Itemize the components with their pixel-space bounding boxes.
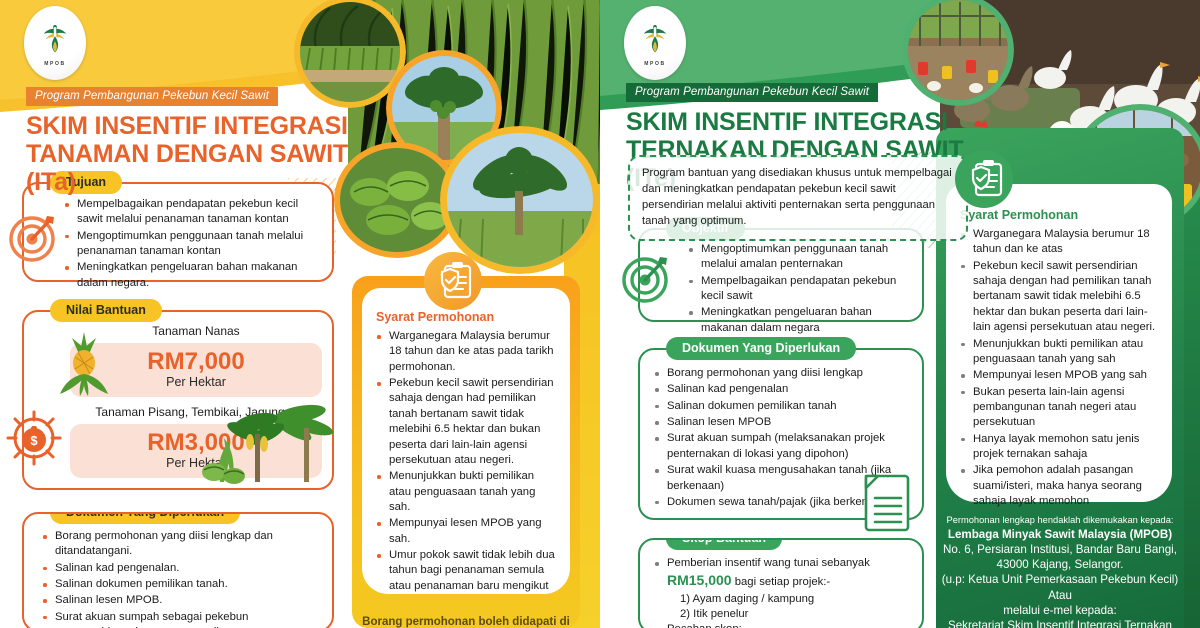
syarat-ite-list: Warganegara Malaysia berumur 18 tahun da…: [960, 227, 1158, 509]
target-icon: [6, 208, 62, 264]
list-item: Surat akuan sumpah (melaksanakan projek …: [654, 431, 910, 462]
syarat-ite-title: Syarat Permohonan: [960, 208, 1158, 222]
list-item: Pekebun kecil sawit persendirian sahaja …: [960, 259, 1158, 336]
target-icon-green: [618, 248, 676, 306]
list-item: Menunjukkan bukti pemilikan atau penguas…: [960, 337, 1158, 368]
money-target-icon: $: [4, 408, 64, 468]
contact-or: Atau: [938, 588, 1182, 603]
list-item: Mengoptimumkan penggunaan tanah melalui …: [688, 242, 910, 273]
chip-skop-bantuan: Skop Bantuan: [666, 538, 782, 550]
panel-ite: MPOB Program Pembangunan Pekebun Kecil S…: [600, 0, 1200, 628]
mpob-logo: MPOB: [24, 6, 86, 80]
left-footer-note: Borang permohonan boleh didapati di: [350, 616, 582, 628]
list-item: Umur pokok sawit tidak lebih dua tahun b…: [376, 548, 556, 594]
list-item: Hanya layak memohon satu jenis projek te…: [960, 432, 1158, 463]
left-header: Program Pembangunan Pekebun Kecil Sawit …: [26, 86, 356, 196]
left-title-line1: SKIM INSENTIF INTEGRASI: [26, 112, 356, 140]
list-item: Mengoptimumkan penggunaan tanah melalui …: [64, 229, 320, 260]
card-skop-bantuan: Skop Bantuan Pemberian insentif wang tun…: [638, 538, 924, 628]
list-item: Menunjukkan bukti pemilikan atau penguas…: [376, 469, 556, 515]
mpob-logo-right: MPOB: [624, 6, 686, 80]
intro-box: Program bantuan yang disediakan khusus u…: [628, 155, 968, 241]
card-syarat-ita: Syarat Permohonan Warganegara Malaysia b…: [362, 288, 570, 594]
card-syarat-ite: Syarat Permohonan Warganegara Malaysia b…: [946, 184, 1172, 502]
right-title-line1: SKIM INSENTIF INTEGRASI: [626, 108, 966, 136]
chip-dokumen-ita: Dokumen Yang Diperlukan: [50, 512, 240, 524]
contact-email-lead: melalui e-mel kepada:: [938, 603, 1182, 618]
contact-addr2: 43000 Kajang, Selangor.: [938, 557, 1182, 572]
objektif-list: Mengoptimumkan penggunaan tanah melalui …: [688, 242, 910, 336]
list-item: Borang permohonan yang diisi lengkap dan…: [42, 529, 320, 560]
list-item: Warganegara Malaysia berumur 18 tahun da…: [376, 329, 556, 375]
logo-text-right: MPOB: [644, 61, 665, 67]
card-tujuan: Tujuan Mempelbagaikan pendapatan pekebun…: [22, 182, 334, 282]
list-item: Pecahan skop:-: [654, 622, 910, 628]
list-item: Meningkatkan pengeluaran bahan makanan d…: [688, 305, 910, 336]
list-item: Mempelbagaikan pendapatan pekebun kecil …: [688, 274, 910, 305]
list-item: Bukan peserta lain-lain agensi pembangun…: [960, 385, 1158, 431]
pineapple-illustration: [58, 330, 110, 401]
poster-root: MPOB Program Pembangunan Pekebun Kecil S…: [0, 0, 1200, 628]
skop-sub-item-1: 2) Itik penelur: [654, 607, 910, 622]
nb-amount-0: RM7,000: [84, 349, 308, 374]
contact-attn: (u.p: Ketua Unit Pemerkasaan Pekebun Kec…: [938, 572, 1182, 587]
list-item: Salinan kad pengenalan.: [42, 561, 320, 576]
left-title-line2: TANAMAN DENGAN SAWIT (ITa): [26, 140, 356, 196]
list-item: Pemberian insentif wang tunai sebanyak R…: [654, 556, 910, 591]
chip-nilai-bantuan: Nilai Bantuan: [50, 299, 162, 322]
list-item: Mempunyai lesen MPOB yang sah: [960, 368, 1158, 383]
skop-sub-item-0: 1) Ayam daging / kampung: [654, 592, 910, 607]
contact-org: Lembaga Minyak Sawit Malaysia (MPOB): [938, 527, 1182, 542]
nb-per-0: Per Hektar: [84, 375, 308, 389]
syarat-ita-title: Syarat Permohonan: [376, 310, 556, 324]
contact-lead: Permohonan lengkap hendaklah dikemukakan…: [938, 514, 1182, 527]
skop-lead-prefix: Pemberian insentif wang tunai sebanyak: [667, 557, 870, 569]
contact-addr1: No. 6, Persiaran Institusi, Bandar Baru …: [938, 542, 1182, 557]
list-item: Salinan dokumen pemilikan tanah: [654, 399, 910, 414]
dokumen-ita-list: Borang permohonan yang diisi lengkap dan…: [42, 529, 320, 628]
card-objektif: Objektif Mengoptimumkan penggunaan tanah…: [638, 228, 924, 322]
list-item: Warganegara Malaysia berumur 18 tahun da…: [960, 227, 1158, 258]
right-eyebrow: Program Pembangunan Pekebun Kecil Sawit: [626, 83, 878, 102]
document-icon: [862, 472, 918, 536]
list-item: Mempelbagaikan pendapatan pekebun kecil …: [64, 197, 320, 228]
clipboard-shield-icon-green: [955, 150, 1013, 208]
contact-block: Permohonan lengkap hendaklah dikemukakan…: [938, 514, 1182, 628]
left-eyebrow: Program Pembangunan Pekebun Kecil Sawit: [26, 87, 278, 106]
logo-text: MPOB: [44, 61, 65, 67]
list-item: Salinan lesen MPOB.: [42, 593, 320, 608]
list-item: Jika pemohon adalah pasangan suami/ister…: [960, 463, 1158, 509]
list-item: Salinan kad pengenalan: [654, 382, 910, 397]
list-item: Meningkatkan pengeluaran bahan makanan d…: [64, 260, 320, 291]
svg-text:$: $: [30, 433, 38, 448]
clipboard-shield-icon: [424, 252, 482, 310]
panel-ita: MPOB Program Pembangunan Pekebun Kecil S…: [0, 0, 600, 628]
list-item: Surat akuan sumpah sebagai pekebun menge…: [42, 610, 320, 628]
list-item: Salinan lesen MPOB: [654, 415, 910, 430]
list-item: Borang permohonan yang diisi lengkap: [654, 366, 910, 381]
list-item: Pekebun kecil sawit persendirian sahaja …: [376, 376, 556, 468]
skop-amount: RM15,000: [667, 572, 732, 588]
skop-list: Pemberian insentif wang tunai sebanyak R…: [654, 556, 910, 591]
list-item: Mempunyai lesen MPOB yang sah.: [376, 516, 556, 547]
mixed-crops-illustration: [200, 392, 334, 493]
chip-dokumen-ite: Dokumen Yang Diperlukan: [666, 337, 856, 360]
list-item: Salinan dokumen pemilikan tanah.: [42, 577, 320, 592]
skop-list-last: Pecahan skop:-: [654, 622, 910, 628]
left-title: SKIM INSENTIF INTEGRASI TANAMAN DENGAN S…: [26, 112, 356, 196]
skop-lead-suffix: bagi setiap projek:-: [735, 576, 830, 588]
contact-email-to: Sekretariat Skim Insentif Integrasi Tern…: [938, 618, 1182, 628]
card-dokumen-ita: Dokumen Yang Diperlukan Borang permohona…: [22, 512, 334, 628]
syarat-ita-list: Warganegara Malaysia berumur 18 tahun da…: [376, 329, 556, 594]
tujuan-list: Mempelbagaikan pendapatan pekebun kecil …: [64, 197, 320, 291]
